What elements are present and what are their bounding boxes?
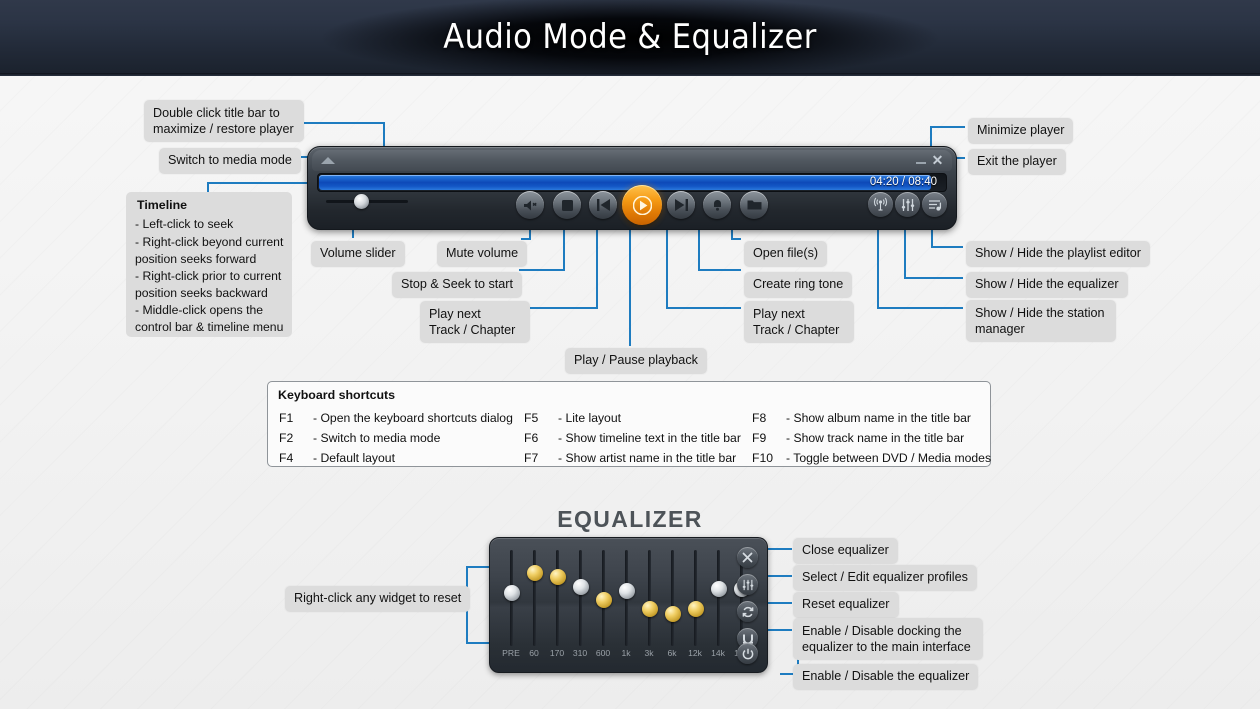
connector-prev-h bbox=[519, 307, 598, 309]
playlist-editor-button[interactable] bbox=[922, 192, 947, 217]
shortcut-desc: - Show timeline text in the title bar bbox=[558, 431, 741, 445]
band-knob-310[interactable] bbox=[573, 579, 589, 595]
connector-stop-h bbox=[519, 269, 565, 271]
band-knob-1k[interactable] bbox=[619, 583, 635, 599]
connector-eqtoggle-h bbox=[904, 277, 963, 279]
minimize-icon[interactable] bbox=[916, 162, 926, 164]
shortcut-desc: - Lite layout bbox=[558, 411, 621, 425]
play-triangle-icon bbox=[633, 196, 652, 215]
band-knob-14k[interactable] bbox=[711, 581, 727, 597]
equalizer-window[interactable]: PRE 60 170 310 600 1k 3k 6k 12k 14k 16k bbox=[489, 537, 768, 673]
shortcut-row: F1 - Open the keyboard shortcuts dialog bbox=[279, 408, 529, 428]
timeline-info-line-2: - Right-click prior to current position … bbox=[135, 268, 286, 301]
band-track-14k[interactable] bbox=[717, 550, 720, 646]
shortcut-row: F7 - Show artist name in the title bar bbox=[524, 448, 754, 468]
callout-edit-profiles: Select / Edit equalizer profiles bbox=[793, 565, 977, 591]
shortcut-key: F4 bbox=[279, 451, 313, 465]
power-equalizer-button[interactable] bbox=[737, 643, 758, 664]
timeline-info-box: Timeline - Left-click to seek - Right-cl… bbox=[126, 192, 292, 337]
shortcut-row: F5 - Lite layout bbox=[524, 408, 754, 428]
volume-slider-knob[interactable] bbox=[354, 194, 369, 209]
sliders-icon bbox=[742, 579, 754, 591]
page-title: Audio Mode & Equalizer bbox=[0, 17, 1260, 57]
shortcut-key: F2 bbox=[279, 431, 313, 445]
callout-close-equalizer: Close equalizer bbox=[793, 538, 898, 564]
reset-equalizer-button[interactable] bbox=[737, 601, 758, 622]
callout-minimize-player: Minimize player bbox=[968, 118, 1073, 144]
shortcut-desc: - Switch to media mode bbox=[313, 431, 440, 445]
sliders-icon bbox=[901, 198, 915, 212]
shortcut-row: F10 - Toggle between DVD / Media modes bbox=[752, 448, 992, 468]
keyboard-shortcuts-panel: Keyboard shortcuts F1 - Open the keyboar… bbox=[267, 381, 991, 467]
band-knob-170[interactable] bbox=[550, 569, 566, 585]
connector-playlist-h bbox=[931, 246, 963, 248]
connector-mute-h bbox=[521, 238, 531, 240]
callout-equalizer-toggle: Show / Hide the equalizer bbox=[966, 272, 1128, 298]
connector-play bbox=[629, 222, 631, 346]
time-display: 04:20 / 08:40 bbox=[870, 175, 937, 190]
close-equalizer-button[interactable] bbox=[737, 547, 758, 568]
player-title-bar[interactable]: ✕ bbox=[312, 150, 952, 171]
timeline-info-line-0: - Left-click to seek bbox=[135, 216, 286, 233]
timeline-info-title: Timeline bbox=[137, 198, 187, 212]
folder-icon bbox=[747, 199, 762, 211]
speaker-icon bbox=[523, 199, 538, 212]
connector-ring-h bbox=[698, 269, 741, 271]
callout-volume-slider: Volume slider bbox=[311, 241, 405, 267]
callout-double-click-title: Double click title bar to maximize / res… bbox=[144, 100, 304, 142]
progress-fill bbox=[319, 175, 931, 190]
bell-icon bbox=[711, 199, 724, 212]
play-pause-button[interactable] bbox=[622, 185, 662, 225]
callout-switch-media-mode: Switch to media mode bbox=[159, 148, 301, 174]
callout-open-files: Open file(s) bbox=[744, 241, 827, 267]
connector-timeline-h bbox=[207, 182, 322, 184]
band-knob-12k[interactable] bbox=[688, 601, 704, 617]
shortcut-row: F8 - Show album name in the title bar bbox=[752, 408, 992, 428]
callout-station-manager: Show / Hide the station manager bbox=[966, 300, 1116, 342]
band-track-12k[interactable] bbox=[694, 550, 697, 646]
equalizer-button[interactable] bbox=[895, 192, 920, 217]
callout-exit-player: Exit the player bbox=[968, 149, 1066, 175]
page-background: Audio Mode & Equalizer bbox=[0, 0, 1260, 709]
keyboard-shortcuts-title: Keyboard shortcuts bbox=[278, 388, 395, 402]
power-icon bbox=[742, 648, 754, 660]
shortcut-key: F9 bbox=[752, 431, 786, 445]
connector-station-h bbox=[877, 307, 963, 309]
callout-stop-seek: Stop & Seek to start bbox=[392, 272, 522, 298]
connector-open-h bbox=[731, 238, 741, 240]
shortcut-row: F4 - Default layout bbox=[279, 448, 529, 468]
close-x-icon bbox=[742, 552, 753, 563]
callout-play-pause: Play / Pause playback bbox=[565, 348, 707, 374]
callout-play-next-right: Play next Track / Chapter bbox=[744, 301, 854, 343]
band-track-3k[interactable] bbox=[648, 550, 651, 646]
open-files-button[interactable] bbox=[740, 191, 768, 219]
previous-track-button[interactable] bbox=[589, 191, 617, 219]
next-track-button[interactable] bbox=[667, 191, 695, 219]
callout-reset-equalizer: Reset equalizer bbox=[793, 592, 899, 618]
band-knob-6k[interactable] bbox=[665, 606, 681, 622]
shortcut-key: F8 bbox=[752, 411, 786, 425]
shortcut-desc: - Toggle between DVD / Media modes bbox=[786, 451, 991, 465]
shortcut-desc: - Default layout bbox=[313, 451, 395, 465]
band-knob-pre[interactable] bbox=[504, 585, 520, 601]
shortcut-key: F1 bbox=[279, 411, 313, 425]
shortcut-row: F9 - Show track name in the title bar bbox=[752, 428, 992, 448]
media-mode-arrow-icon[interactable] bbox=[321, 157, 335, 164]
connector-double-click bbox=[296, 122, 384, 124]
mute-volume-button[interactable] bbox=[516, 191, 544, 219]
band-track-6k[interactable] bbox=[671, 550, 674, 646]
shortcuts-column-1: F1 - Open the keyboard shortcuts dialog … bbox=[279, 408, 529, 468]
page-header: Audio Mode & Equalizer bbox=[0, 0, 1260, 76]
shortcuts-column-2: F5 - Lite layout F6 - Show timeline text… bbox=[524, 408, 754, 468]
equalizer-profiles-button[interactable] bbox=[737, 574, 758, 595]
callout-create-ring-tone: Create ring tone bbox=[744, 272, 852, 298]
playlist-note-icon bbox=[928, 198, 942, 212]
skip-back-icon bbox=[597, 199, 610, 211]
band-track-310[interactable] bbox=[579, 550, 582, 646]
band-knob-600[interactable] bbox=[596, 592, 612, 608]
callout-playlist-editor: Show / Hide the playlist editor bbox=[966, 241, 1150, 267]
band-knob-3k[interactable] bbox=[642, 601, 658, 617]
shortcuts-column-3: F8 - Show album name in the title bar F9… bbox=[752, 408, 992, 468]
shortcut-desc: - Show track name in the title bar bbox=[786, 431, 964, 445]
callout-mute-volume: Mute volume bbox=[437, 241, 527, 267]
shortcut-key: F10 bbox=[752, 451, 786, 465]
shortcut-desc: - Show artist name in the title bar bbox=[558, 451, 736, 465]
shortcut-key: F5 bbox=[524, 411, 558, 425]
timeline-info-line-1: - Right-click beyond current position se… bbox=[135, 234, 286, 267]
callout-enable-equalizer: Enable / Disable the equalizer bbox=[793, 664, 978, 690]
connector-minimize-h bbox=[930, 126, 965, 128]
skip-forward-icon bbox=[675, 199, 688, 211]
shortcut-row: F2 - Switch to media mode bbox=[279, 428, 529, 448]
shortcut-row: F6 - Show timeline text in the title bar bbox=[524, 428, 754, 448]
stop-button[interactable] bbox=[553, 191, 581, 219]
callout-play-next-left: Play next Track / Chapter bbox=[420, 301, 530, 343]
timeline-info-line-3: - Middle-click opens the control bar & t… bbox=[135, 302, 286, 335]
media-player-window[interactable]: ✕ 04:20 / 08:40 bbox=[307, 146, 957, 230]
ring-tone-button[interactable] bbox=[703, 191, 731, 219]
shortcut-key: F7 bbox=[524, 451, 558, 465]
connector-next-h bbox=[666, 307, 741, 309]
callout-dock-equalizer: Enable / Disable docking the equalizer t… bbox=[793, 618, 983, 660]
callout-right-click-reset: Right-click any widget to reset bbox=[285, 586, 470, 612]
refresh-icon bbox=[742, 606, 754, 618]
band-track-170[interactable] bbox=[556, 550, 559, 646]
shortcut-desc: - Open the keyboard shortcuts dialog bbox=[313, 411, 513, 425]
band-knob-60[interactable] bbox=[527, 565, 543, 581]
station-manager-button[interactable] bbox=[868, 192, 893, 217]
shortcut-key: F6 bbox=[524, 431, 558, 445]
close-icon[interactable]: ✕ bbox=[931, 154, 944, 167]
shortcut-desc: - Show album name in the title bar bbox=[786, 411, 971, 425]
antenna-icon bbox=[873, 197, 888, 212]
equalizer-heading: EQUALIZER bbox=[0, 506, 1260, 533]
volume-slider[interactable] bbox=[326, 200, 408, 203]
stop-square-icon bbox=[562, 200, 573, 211]
